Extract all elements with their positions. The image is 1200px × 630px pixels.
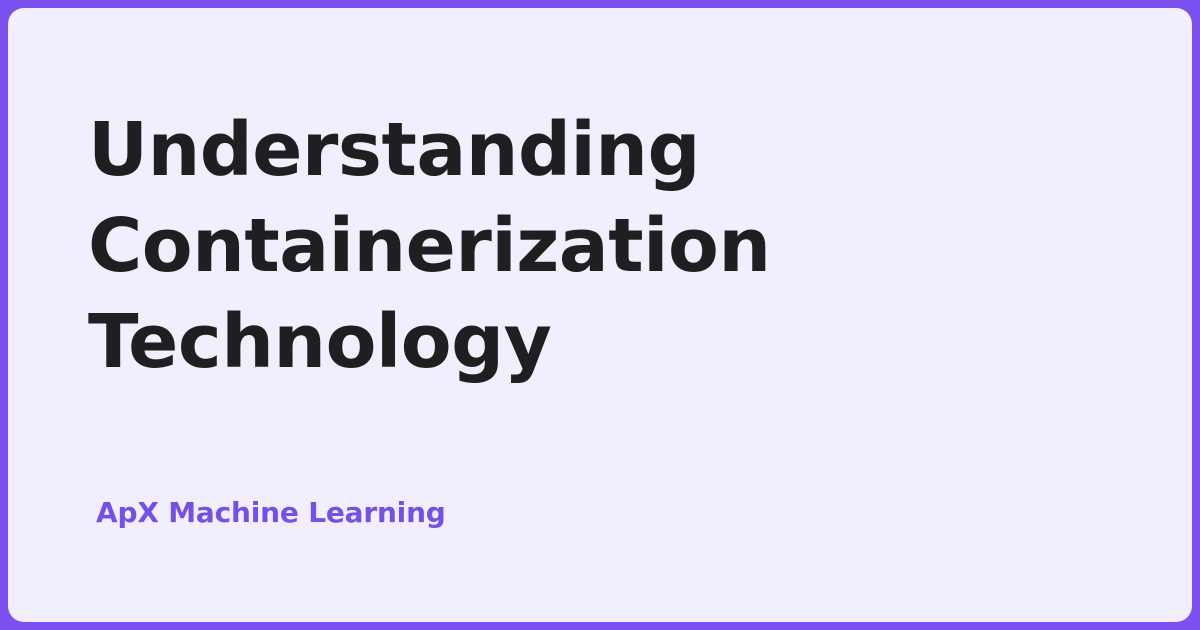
byline-brand: ApX Machine Learning — [96, 496, 446, 530]
page-title: Understanding Containerization Technolog… — [88, 102, 788, 390]
card-inner-surface: Understanding Containerization Technolog… — [8, 8, 1192, 622]
og-card: Understanding Containerization Technolog… — [0, 0, 1200, 630]
card-content: Understanding Containerization Technolog… — [88, 102, 1102, 390]
